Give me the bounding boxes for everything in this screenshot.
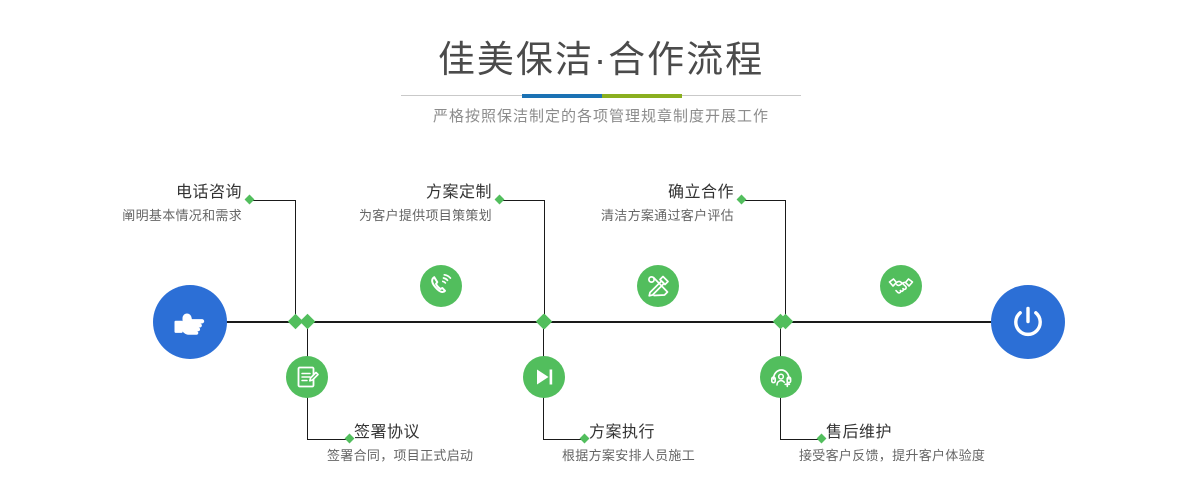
power-icon [1007, 301, 1049, 343]
connector-horizontal [307, 439, 350, 440]
pointing-hand-icon [170, 302, 210, 342]
timeline-end-endpoint[interactable] [991, 285, 1065, 359]
label-bullet [737, 195, 747, 205]
step-description: 根据方案安排人员施工 [562, 447, 802, 465]
step-description: 清洁方案通过客户评估 [502, 207, 734, 225]
step-title: 确立合作 [552, 183, 734, 203]
divider-green-bar [602, 94, 682, 98]
step-icon-headset-support[interactable] [760, 356, 802, 398]
step-description: 接受客户反馈，提升客户体验度 [799, 447, 1079, 465]
label-bullet [345, 434, 355, 444]
document-pencil-icon [295, 365, 319, 389]
process-timeline: 电话咨询 阐明基本情况和需求 签署协议 签署合同，项目正式启动 [0, 145, 1202, 502]
connector-vertical [785, 200, 786, 322]
step-title: 方案执行 [589, 423, 789, 443]
connector-horizontal [250, 200, 296, 201]
axis-node-marker [536, 314, 552, 330]
pencil-ruler-icon [646, 274, 671, 299]
step-title: 售后维护 [826, 423, 1046, 443]
step-title: 方案定制 [310, 183, 492, 203]
step-description: 签署合同，项目正式启动 [327, 447, 567, 465]
label-bullet [580, 434, 590, 444]
axis-node-marker [300, 314, 316, 330]
play-forward-icon [532, 365, 556, 389]
step-description: 为客户提供项目策策划 [262, 207, 492, 225]
step-icon-handshake[interactable] [880, 265, 922, 307]
step-icon-pencil-ruler[interactable] [637, 265, 679, 307]
headset-support-add-icon [769, 365, 794, 390]
step-description: 阐明基本情况和需求 [30, 207, 242, 225]
label-bullet [245, 195, 255, 205]
label-bullet [817, 434, 827, 444]
step-icon-play-forward[interactable] [523, 356, 565, 398]
connector-horizontal [780, 439, 822, 440]
connector-horizontal [742, 200, 786, 201]
label-bullet [495, 195, 505, 205]
step-icon-document-pencil[interactable] [286, 356, 328, 398]
connector-horizontal [500, 200, 545, 201]
step-title: 电话咨询 [60, 183, 242, 203]
divider-blue-bar [522, 94, 602, 98]
handshake-icon [888, 273, 914, 299]
phone-call-icon [428, 273, 454, 299]
title-divider [401, 94, 801, 98]
header: 佳美保洁·合作流程 严格按照保洁制定的各项管理规章制度开展工作 [0, 0, 1202, 145]
connector-horizontal [543, 439, 585, 440]
connector-vertical [544, 200, 545, 322]
timeline-start-endpoint[interactable] [153, 285, 227, 359]
step-title: 签署协议 [354, 423, 554, 443]
page-subtitle: 严格按照保洁制定的各项管理规章制度开展工作 [0, 105, 1202, 126]
connector-vertical [295, 200, 296, 322]
page-title: 佳美保洁·合作流程 [0, 36, 1202, 84]
step-icon-phone-call[interactable] [420, 265, 462, 307]
